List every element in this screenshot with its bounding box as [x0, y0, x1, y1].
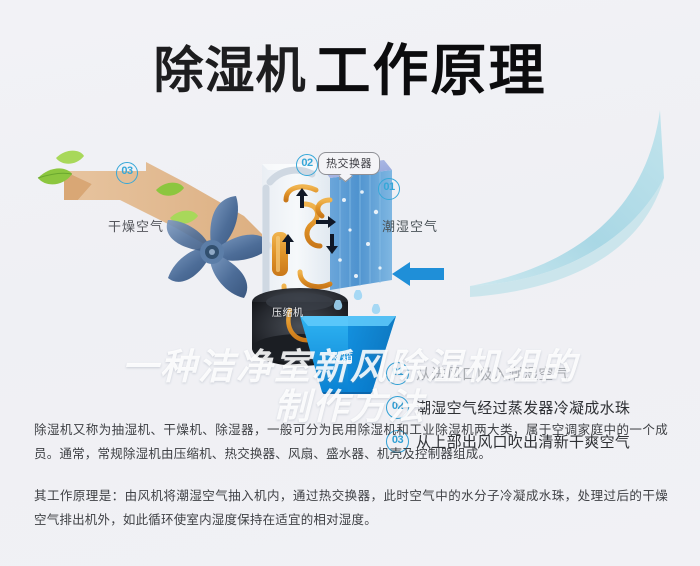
heat-exchanger-callout: 热交换器 [318, 152, 380, 175]
diagram-badge-03: 03 [116, 162, 138, 184]
page-title-part2: 工作原理 [315, 39, 547, 102]
page-title-part1: 除湿机 [154, 43, 307, 99]
body-paragraph-2: 其工作原理是：由风机将潮湿空气抽入机内，通过热交换器，此时空气中的水分子冷凝成水… [34, 484, 668, 532]
step-number-01: 01 [386, 362, 409, 385]
label-water-tank: 水箱 [328, 349, 354, 366]
label-humid-air: 潮湿空气 [382, 216, 438, 235]
body-paragraph-1: 除湿机又称为抽湿机、干燥机、除湿器，一般可分为民用除湿机和工业除湿机两大类，属于… [34, 418, 668, 466]
body-copy: 除湿机又称为抽湿机、干燥机、除湿器，一般可分为民用除湿机和工业除湿机两大类，属于… [34, 418, 668, 532]
diagram-badge-01: 01 [378, 178, 400, 200]
step-text-01: 从进风口吸入潮湿空气 [416, 363, 569, 384]
label-dry-air: 干燥空气 [108, 216, 164, 235]
step-number-02: 02 [386, 396, 409, 419]
air-intake-arrow [392, 262, 444, 286]
diagram-badge-02: 02 [296, 154, 318, 176]
step-item-01: 01 从进风口吸入潮湿空气 [386, 356, 686, 390]
humid-air-flow [470, 110, 664, 297]
label-compressor: 压缩机 [272, 304, 304, 319]
dehumidifier-infographic-page: 除湿机工作原理 [0, 0, 700, 566]
page-title: 除湿机工作原理 [0, 26, 700, 107]
step-text-02: 潮湿空气经过蒸发器冷凝成水珠 [416, 397, 630, 418]
working-principle-diagram: 03 02 01 热交换器 干燥空气 潮湿空气 压缩机 水箱 01 从进风口吸入… [0, 104, 700, 394]
